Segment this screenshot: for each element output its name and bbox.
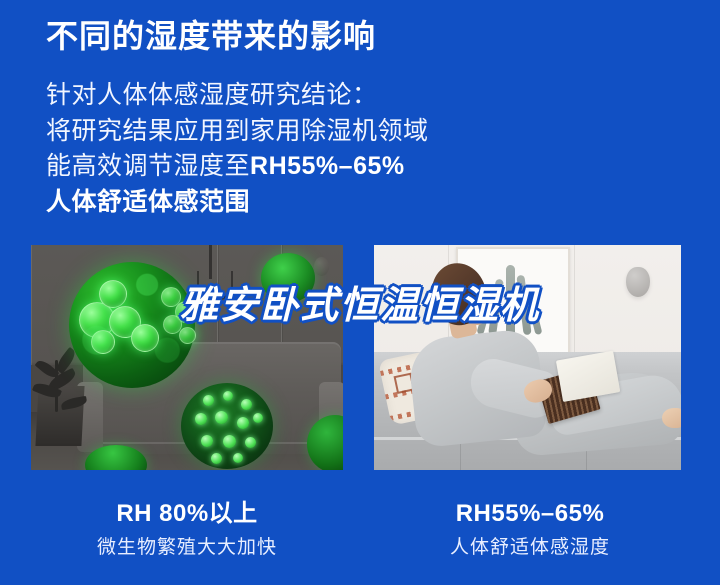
photo-right-comfort-room — [374, 245, 681, 470]
bacteria-cell — [91, 330, 115, 354]
intro-line-3: 能高效调节湿度至RH55%–65% — [46, 149, 429, 185]
virus-spike — [241, 399, 252, 410]
wall-knob-icon — [314, 257, 329, 276]
caption-right-title: RH55%–65% — [374, 498, 686, 529]
intro-copy: 针对人体体感湿度研究结论： 将研究结果应用到家用除湿机领域 能高效调节湿度至RH… — [46, 78, 429, 220]
book-page — [556, 351, 620, 402]
sofa-cushion-seam — [460, 440, 461, 470]
intro-line-1: 针对人体体感湿度研究结论： — [46, 78, 429, 114]
caption-left-subtitle: 微生物繁殖大大加快 — [31, 536, 343, 561]
caption-right: RH55%–65% 人体舒适体感湿度 — [374, 498, 686, 561]
bacteria-cell — [109, 306, 141, 338]
virus-spike — [223, 391, 233, 401]
person-foot — [662, 408, 681, 428]
bacteria-cell — [99, 280, 127, 308]
virus-spike — [237, 417, 249, 429]
poster-root: 不同的湿度带来的影响 针对人体体感湿度研究结论： 将研究结果应用到家用除湿机领域… — [0, 0, 720, 585]
wall-seam — [574, 245, 575, 365]
virus-spike — [233, 453, 243, 463]
plant-stem — [55, 360, 58, 412]
virus-spike — [201, 435, 213, 447]
caption-left-title: RH 80%以上 — [31, 498, 343, 529]
virus-spike — [223, 435, 236, 448]
light-room-scene — [374, 245, 681, 470]
microbe-virus — [181, 383, 273, 469]
virus-spike — [195, 413, 207, 425]
bacteria-cell — [179, 327, 196, 344]
dark-room-scene — [31, 245, 343, 470]
microbe-sphere — [261, 253, 315, 303]
page-title: 不同的湿度带来的影响 — [46, 16, 376, 56]
cactus-icon — [506, 265, 515, 339]
intro-line-4: 人体舒适体感范围 — [46, 185, 429, 221]
intro-line-3-prefix: 能高效调节湿度至 — [46, 152, 250, 180]
virus-spike — [245, 437, 256, 448]
intro-line-2: 将研究结果应用到家用除湿机领域 — [46, 114, 429, 150]
virus-spike — [203, 395, 214, 406]
virus-spike — [215, 411, 228, 424]
caption-right-subtitle: 人体舒适体感湿度 — [374, 536, 686, 561]
wall-speaker-icon — [626, 267, 650, 297]
bacteria-cell — [79, 302, 115, 338]
photo-left-humid-room — [31, 245, 343, 470]
virus-spike — [211, 453, 222, 464]
humidity-range-value: RH55%–65% — [250, 152, 405, 180]
microbe-cluster — [159, 285, 207, 347]
caption-left: RH 80%以上 微生物繁殖大大加快 — [31, 498, 343, 561]
bacteria-cell — [131, 324, 159, 352]
virus-spike — [253, 413, 263, 423]
